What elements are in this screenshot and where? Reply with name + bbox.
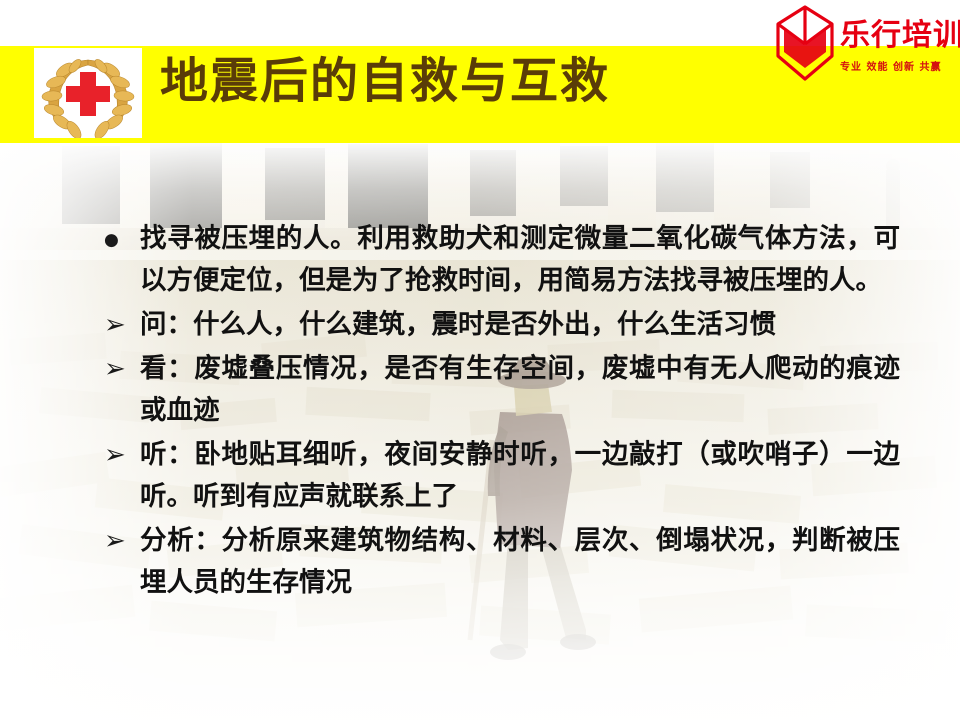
- brand-logo: 乐行培训 专业 效能 创新 共赢: [768, 2, 954, 84]
- list-item: ➢ 问：什么人，什么建筑，震时是否外出，什么生活习惯: [100, 304, 900, 346]
- list-item-text: 分析：分析原来建筑物结构、材料、层次、倒塌状况，判断被压埋人员的生存情况: [140, 520, 900, 604]
- brand-name: 乐行培训: [840, 10, 960, 54]
- list-item: ➢ 分析：分析原来建筑物结构、材料、层次、倒塌状况，判断被压埋人员的生存情况: [100, 520, 900, 604]
- list-item-text: 听：卧地贴耳细听，夜间安静时听，一边敲打（或吹哨子）一边听。听到有应声就联系上了: [140, 434, 900, 518]
- page-title: 地震后的自救与互救: [160, 57, 610, 105]
- brand-tagline: 专业 效能 创新 共赢: [840, 58, 941, 73]
- presentation-slide: 地震后的自救与互救 乐行培训 专业 效能 创新 共赢 ● 找寻被压埋的人。利用救…: [0, 0, 960, 720]
- arrow-bullet-icon: ➢: [100, 348, 140, 390]
- list-item: ➢ 看：废墟叠压情况，是否有生存空间，废墟中有无人爬动的痕迹或血迹: [100, 348, 900, 432]
- emblem-container: [34, 48, 142, 138]
- disc-bullet-icon: ●: [100, 218, 140, 262]
- list-item-text: 找寻被压埋的人。利用救助犬和测定微量二氧化碳气体方法，可以方便定位，但是为了抢救…: [140, 218, 900, 302]
- arrow-bullet-icon: ➢: [100, 520, 140, 562]
- arrow-bullet-icon: ➢: [100, 304, 140, 346]
- list-item: ● 找寻被压埋的人。利用救助犬和测定微量二氧化碳气体方法，可以方便定位，但是为了…: [100, 218, 900, 302]
- red-cross-laurel-emblem: [34, 48, 142, 138]
- list-item-text: 问：什么人，什么建筑，震时是否外出，什么生活习惯: [140, 304, 900, 346]
- list-item-text: 看：废墟叠压情况，是否有生存空间，废墟中有无人爬动的痕迹或血迹: [140, 348, 900, 432]
- bullet-list: ● 找寻被压埋的人。利用救助犬和测定微量二氧化碳气体方法，可以方便定位，但是为了…: [100, 218, 900, 606]
- arrow-bullet-icon: ➢: [100, 434, 140, 476]
- list-item: ➢ 听：卧地贴耳细听，夜间安静时听，一边敲打（或吹哨子）一边听。听到有应声就联系…: [100, 434, 900, 518]
- hexagon-cube-logo: [774, 4, 836, 82]
- red-cross-icon: [66, 72, 110, 116]
